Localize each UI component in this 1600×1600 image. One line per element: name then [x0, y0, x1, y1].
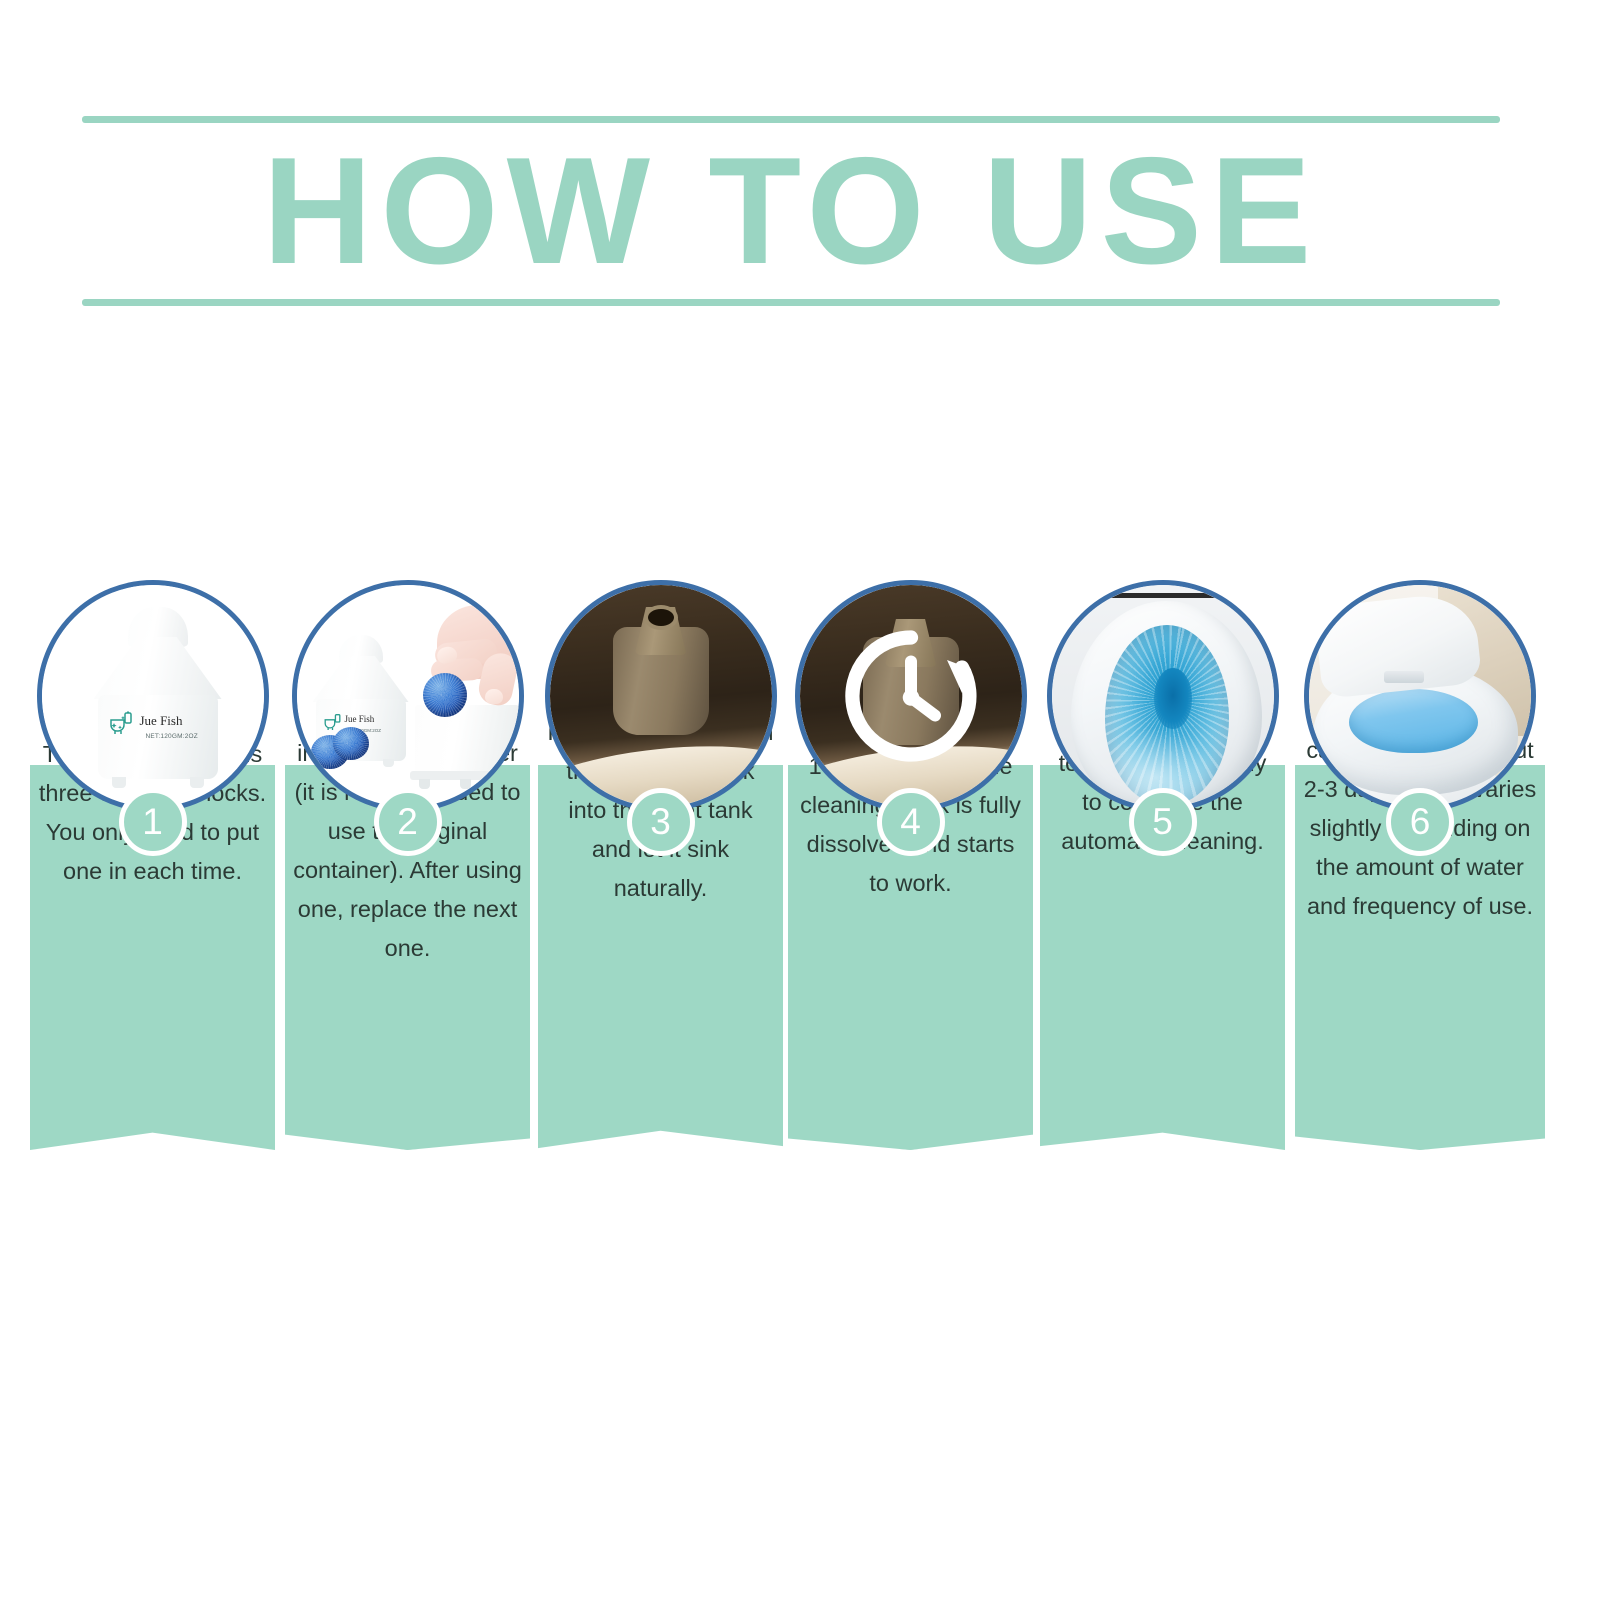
step-card-4: 4 Let it stand for about 10 minutes unti…	[788, 570, 1033, 1170]
step-image-5	[1047, 580, 1279, 812]
cleaning-block	[333, 727, 369, 760]
toilet-bowl-blue-water-photo	[1052, 585, 1274, 807]
step-card-2: Jue Fish NET:120GM:2OZ	[285, 570, 530, 1170]
steps-row: Jue Fish NET:120GM:2OZ 1 The product con…	[30, 570, 1570, 1170]
step-card-6: 6 Each cleaning block can be used for ab…	[1295, 570, 1545, 1170]
brand-label: Jue Fish	[345, 714, 375, 724]
net-weight-label: NET:120GM:2OZ	[146, 733, 198, 740]
step-number-badge-6: 6	[1386, 788, 1454, 856]
modern-toilet-blue-water-photo	[1309, 585, 1531, 807]
step-card-5: 5 After each use of the toilet, flush no…	[1040, 570, 1285, 1170]
page-title: HOW TO USE	[82, 122, 1500, 300]
clock-timer-photo	[800, 585, 1022, 807]
step-number-badge-5: 5	[1129, 788, 1197, 856]
step-card-3: 3 Put the container with the cleaning bl…	[538, 570, 783, 1170]
step-image-3	[545, 580, 777, 812]
step-number-badge-2: 2	[374, 788, 442, 856]
step-image-2: Jue Fish NET:120GM:2OZ	[292, 580, 524, 812]
step-card-1: Jue Fish NET:120GM:2OZ 1 The product con…	[30, 570, 275, 1170]
step-image-6	[1304, 580, 1536, 812]
toilet-sparkle-icon	[108, 711, 134, 735]
step-image-4	[795, 580, 1027, 812]
step-image-1: Jue Fish NET:120GM:2OZ	[37, 580, 269, 812]
toilet-sparkle-icon	[323, 713, 342, 731]
step-number-badge-1: 1	[119, 788, 187, 856]
step-number-badge-4: 4	[877, 788, 945, 856]
cleaning-block-held	[423, 673, 467, 717]
toilet-tank-interior-photo	[550, 585, 772, 807]
header: HOW TO USE	[82, 116, 1500, 306]
hand-dropping-block-into-container-photo: Jue Fish NET:120GM:2OZ	[297, 585, 519, 807]
clock-rotate-icon	[836, 621, 986, 771]
step-number-badge-3: 3	[627, 788, 695, 856]
brand-label: Jue Fish	[140, 713, 183, 729]
product-bottle-photo: Jue Fish NET:120GM:2OZ	[42, 585, 264, 807]
header-bottom-rule	[82, 299, 1500, 306]
